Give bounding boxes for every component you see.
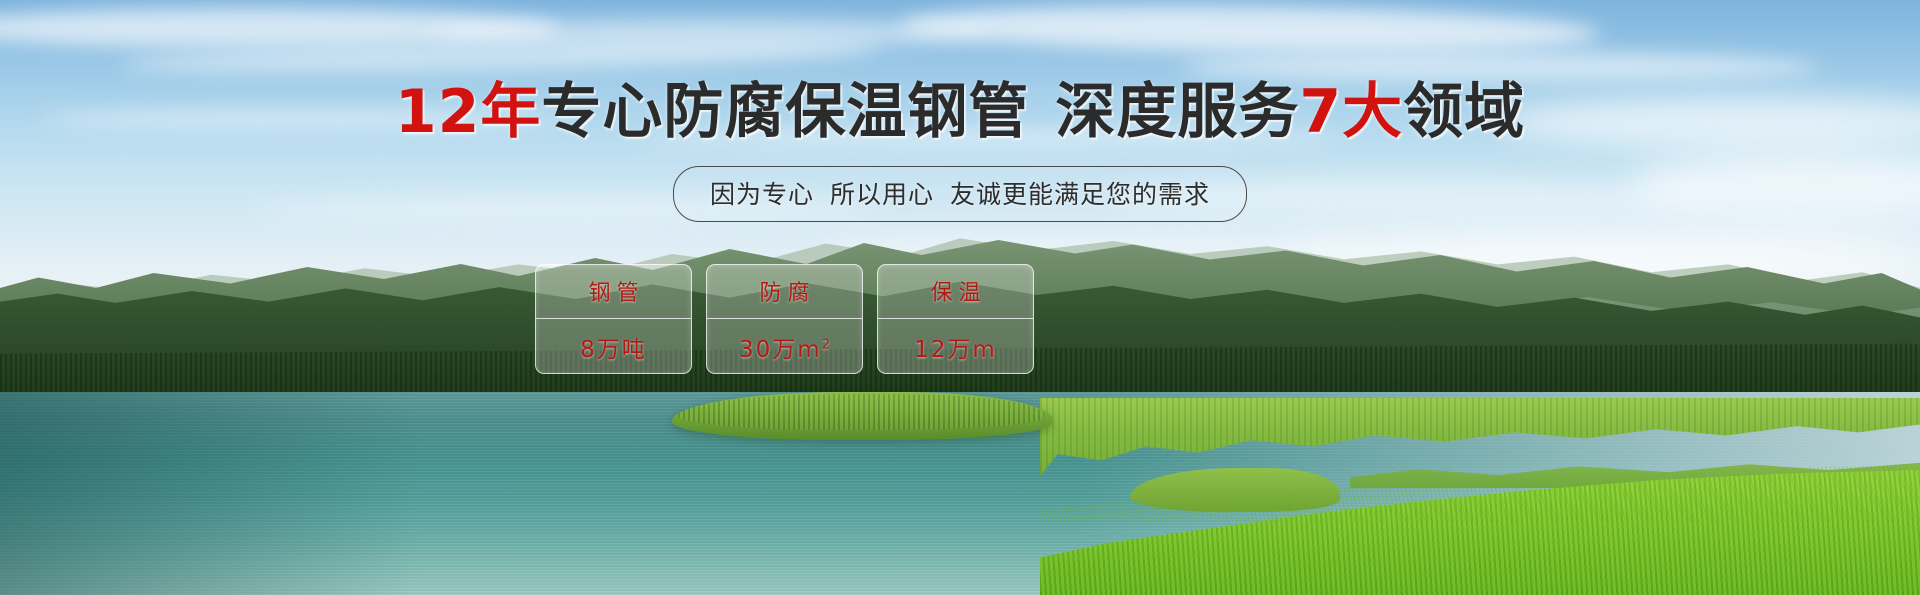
headline-years: 12年 bbox=[395, 77, 542, 147]
headline-main: 专心防腐保温钢管 bbox=[541, 77, 1029, 147]
stat-card-value: 12万m bbox=[914, 330, 997, 364]
banner-subtitle-pill: 因为专心所以用心友诚更能满足您的需求 bbox=[673, 166, 1247, 222]
stat-card-divider bbox=[707, 318, 862, 319]
promo-banner: 12年专心防腐保温钢管深度服务7大领域 因为专心所以用心友诚更能满足您的需求 钢… bbox=[0, 0, 1920, 595]
lake-island-texture bbox=[678, 394, 1044, 430]
stat-card-insulation[interactable]: 保温 12万m bbox=[877, 264, 1034, 374]
stat-card-value-superscript: 2 bbox=[822, 337, 830, 352]
stat-card-row: 钢管 8万吨 防腐 30万m2 保温 12万m bbox=[535, 264, 1034, 374]
subtitle-part-1: 因为专心 bbox=[710, 180, 814, 209]
stat-card-value: 8万吨 bbox=[580, 330, 647, 364]
stat-card-anticorrosion[interactable]: 防腐 30万m2 bbox=[706, 264, 863, 374]
banner-subtitle-wrap: 因为专心所以用心友诚更能满足您的需求 bbox=[0, 166, 1920, 222]
headline-service: 深度服务 bbox=[1055, 77, 1299, 147]
stat-card-divider bbox=[878, 318, 1033, 319]
stat-card-label: 保温 bbox=[924, 275, 986, 309]
subtitle-part-3: 友诚更能满足您的需求 bbox=[950, 180, 1210, 209]
subtitle-part-2: 所以用心 bbox=[830, 180, 934, 209]
stat-card-divider bbox=[536, 318, 691, 319]
stat-card-value-main: 8万吨 bbox=[580, 337, 647, 363]
lake-shadow-left bbox=[0, 392, 420, 595]
stat-card-value-main: 12万m bbox=[914, 337, 997, 363]
banner-headline: 12年专心防腐保温钢管深度服务7大领域 bbox=[0, 82, 1920, 142]
stat-card-value: 30万m2 bbox=[739, 330, 830, 364]
headline-fields-count: 7大 bbox=[1299, 77, 1403, 147]
stat-card-value-main: 30万m bbox=[739, 337, 822, 363]
stat-card-label: 防腐 bbox=[753, 275, 815, 309]
stat-card-steel-pipe[interactable]: 钢管 8万吨 bbox=[535, 264, 692, 374]
cloud-streak-icon bbox=[900, 1, 1601, 57]
stat-card-label: 钢管 bbox=[582, 275, 644, 309]
headline-fields: 领域 bbox=[1403, 77, 1525, 147]
